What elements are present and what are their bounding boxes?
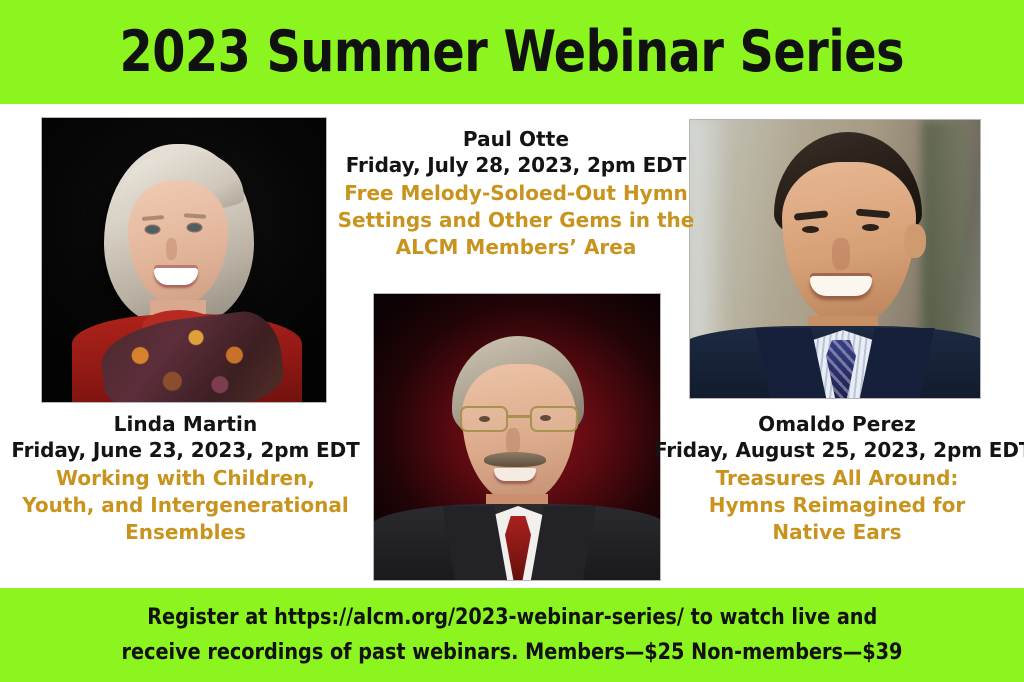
- topic-line: Youth, and Intergenerational: [8, 492, 363, 519]
- eye-left: [146, 226, 159, 233]
- speaker-topic: Working with Children, Youth, and Interg…: [8, 465, 363, 547]
- nose-shape: [166, 238, 177, 260]
- lens-left: [460, 406, 508, 432]
- speaker-topic: Free Melody-Soloed-Out Hymn Settings and…: [326, 180, 706, 262]
- mustache-shape: [484, 452, 546, 467]
- speaker-name: Linda Martin: [8, 411, 363, 437]
- nose-shape: [832, 238, 850, 270]
- eyeglasses-icon: [460, 406, 578, 432]
- speaker-info-omaldo-perez: Omaldo Perez Friday, August 25, 2023, 2p…: [654, 411, 1020, 546]
- speaker-name: Omaldo Perez: [654, 411, 1020, 437]
- speaker-info-linda-martin: Linda Martin Friday, June 23, 2023, 2pm …: [8, 411, 363, 546]
- topic-line: Settings and Other Gems in the: [326, 207, 706, 234]
- speaker-photo-linda-martin: [42, 118, 326, 402]
- smile-shape: [494, 468, 536, 481]
- registration-line-2: receive recordings of past webinars. Mem…: [122, 635, 903, 670]
- speaker-datetime: Friday, August 25, 2023, 2pm EDT: [654, 437, 1020, 463]
- topic-line: Native Ears: [654, 519, 1020, 546]
- eye-right: [188, 224, 201, 231]
- speaker-datetime: Friday, July 28, 2023, 2pm EDT: [326, 152, 706, 178]
- speaker-photo-paul-otte: [374, 294, 660, 580]
- topic-line: Treasures All Around:: [654, 465, 1020, 492]
- topic-line: Ensembles: [8, 519, 363, 546]
- registration-band: Register at https://alcm.org/2023-webina…: [0, 588, 1024, 682]
- smile-shape: [810, 276, 872, 296]
- eye-left: [802, 226, 819, 233]
- topic-line: Hymns Reimagined for: [654, 492, 1020, 519]
- speaker-name: Paul Otte: [326, 126, 706, 152]
- topic-line: Working with Children,: [8, 465, 363, 492]
- speaker-info-paul-otte: Paul Otte Friday, July 28, 2023, 2pm EDT…: [326, 126, 706, 261]
- lens-right: [530, 406, 578, 432]
- nose-shape: [506, 428, 520, 454]
- speaker-datetime: Friday, June 23, 2023, 2pm EDT: [8, 437, 363, 463]
- eye-right: [862, 224, 879, 231]
- registration-line-1[interactable]: Register at https://alcm.org/2023-webina…: [147, 600, 877, 635]
- title-band: 2023 Summer Webinar Series: [0, 0, 1024, 104]
- ear-shape: [904, 224, 926, 258]
- page-title: 2023 Summer Webinar Series: [120, 24, 905, 81]
- speaker-topic: Treasures All Around: Hymns Reimagined f…: [654, 465, 1020, 547]
- smile-shape: [154, 268, 198, 285]
- speaker-photo-omaldo-perez: [690, 120, 980, 398]
- topic-line: ALCM Members’ Area: [326, 234, 706, 261]
- webinar-series-poster: 2023 Summer Webinar Series: [0, 0, 1024, 682]
- topic-line: Free Melody-Soloed-Out Hymn: [326, 180, 706, 207]
- glasses-bridge: [508, 415, 530, 418]
